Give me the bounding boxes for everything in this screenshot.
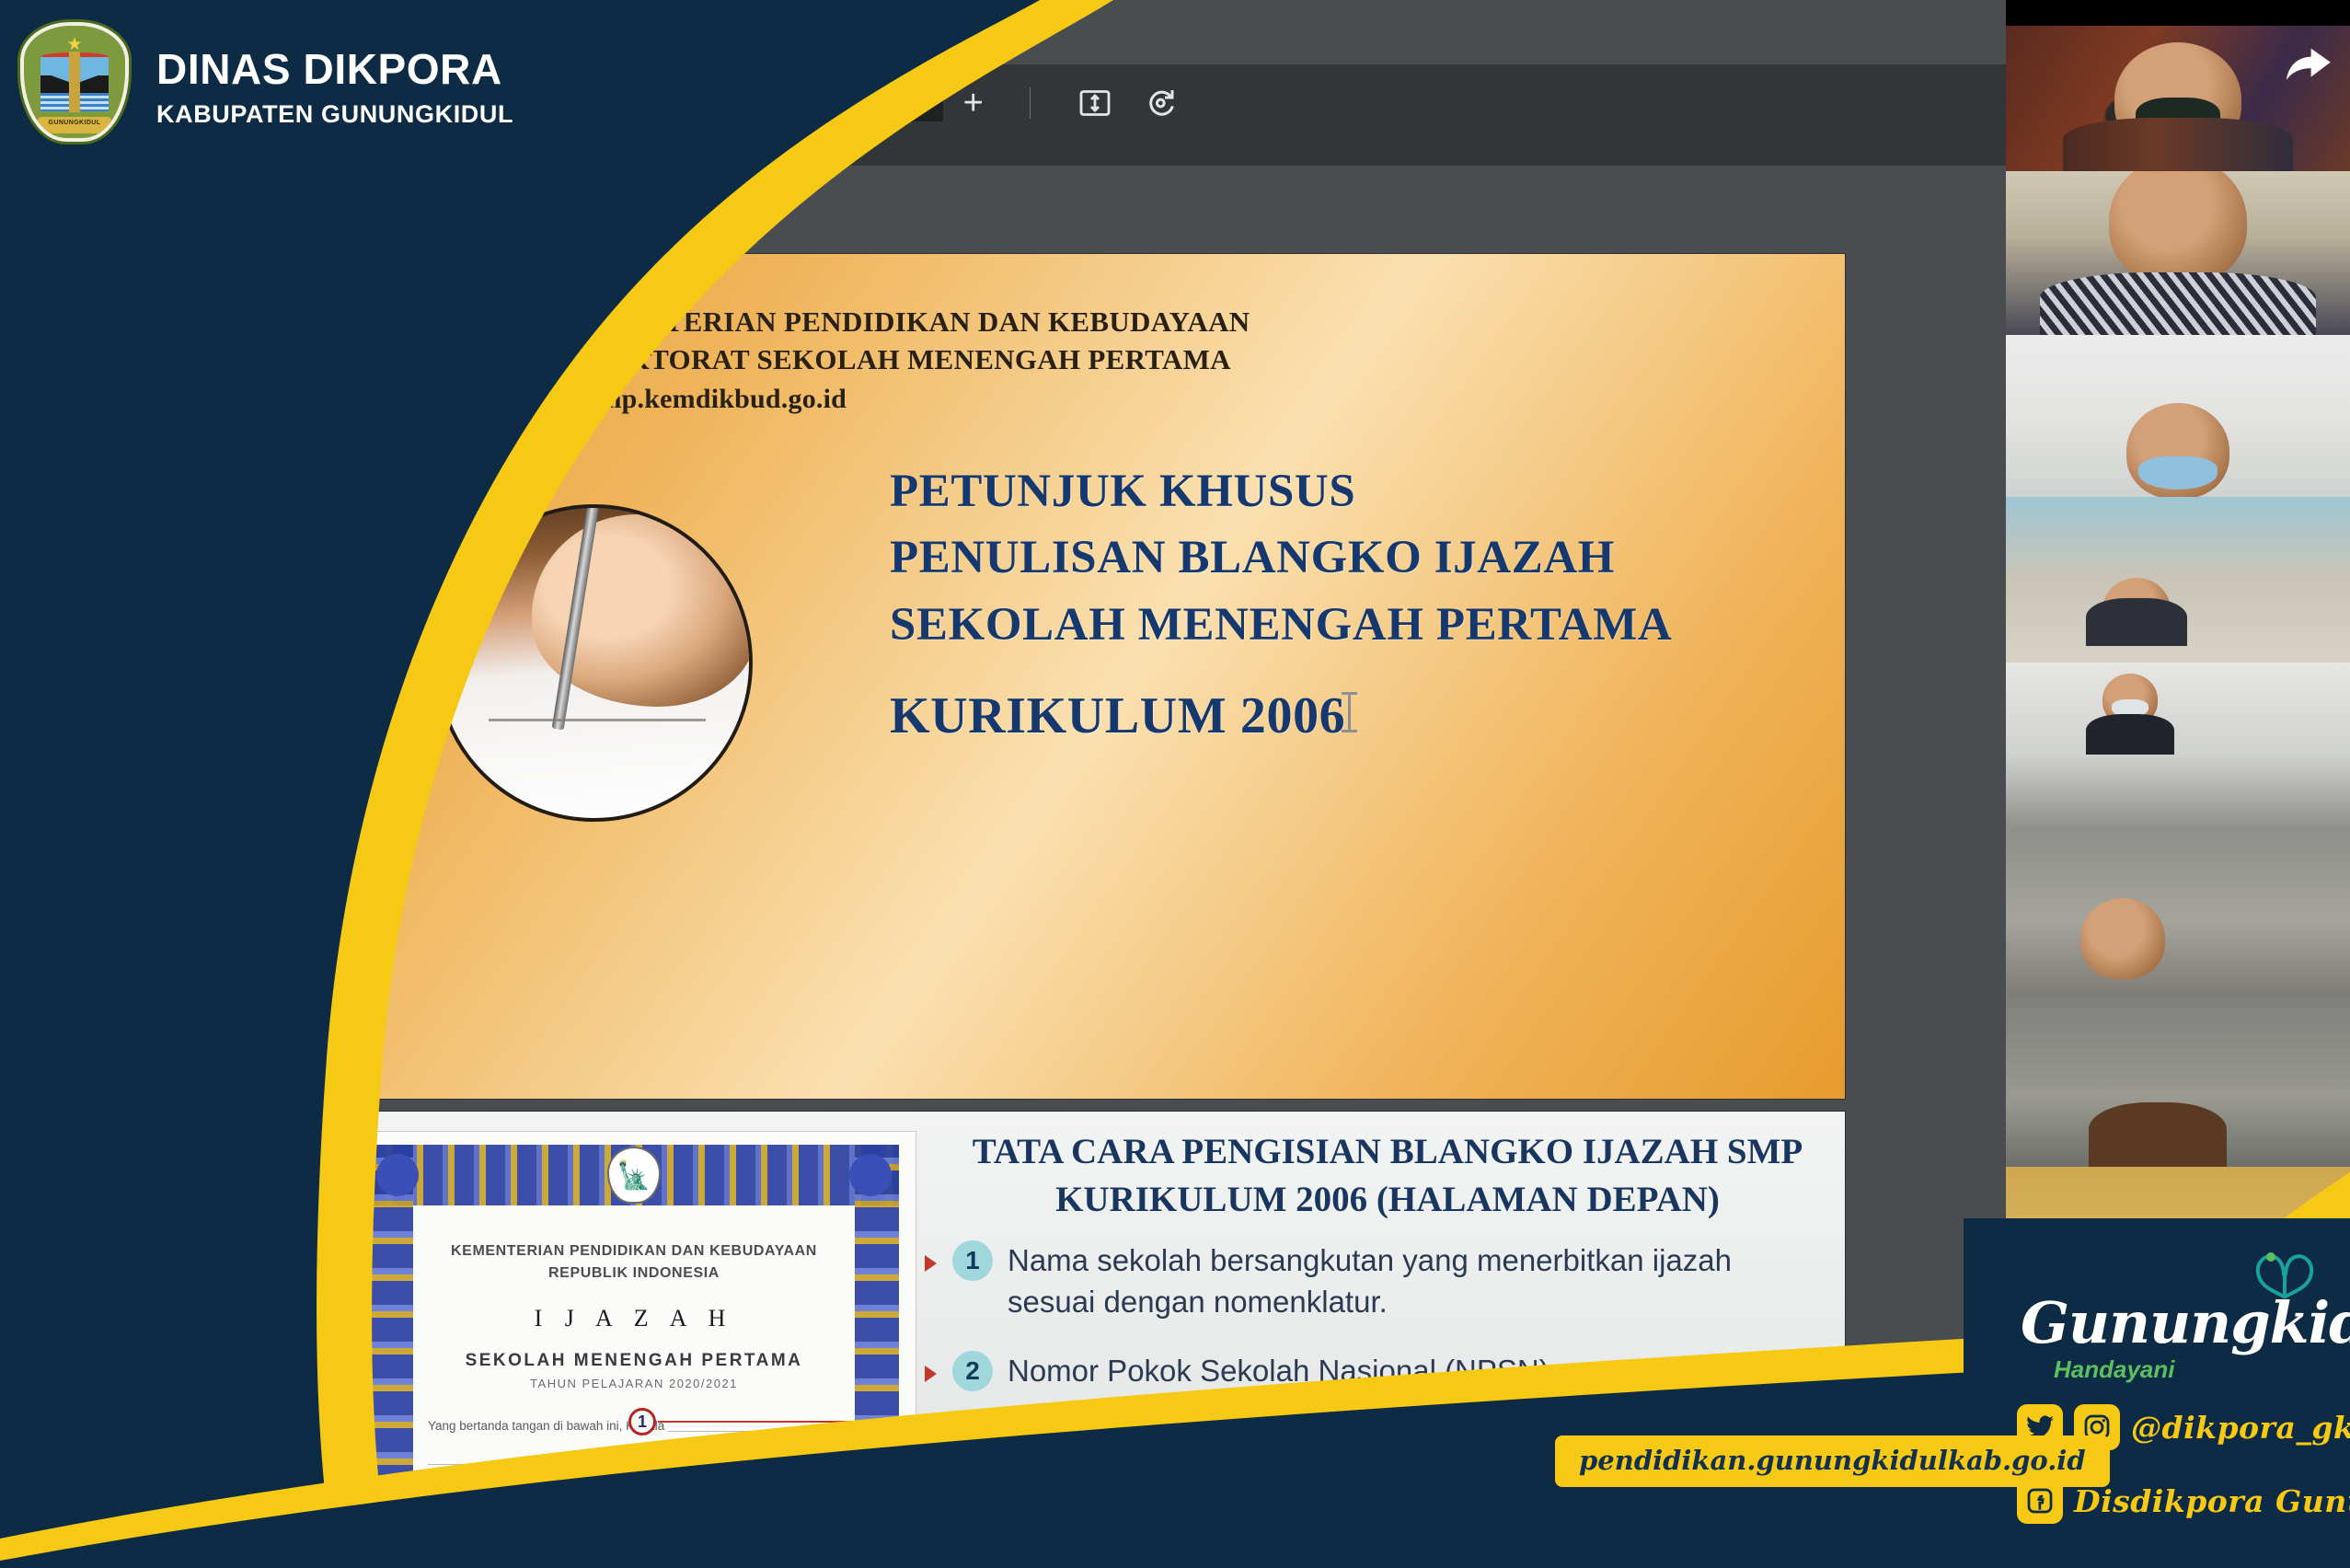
participant-tile-5[interactable] xyxy=(2006,663,2350,830)
brand-title: DINAS DIKPORA KABUPATEN GUNUNGKIDUL xyxy=(156,48,513,129)
total-pages: 55 xyxy=(714,90,740,116)
slide-title-line-2: PENULISAN BLANGKO IJAZAH xyxy=(890,525,1672,591)
certificate-header-line-1: KEMENTERIAN PENDIDIKAN DAN KEBUDAYAAN xyxy=(428,1240,840,1262)
zoom-level-input[interactable]: 100% xyxy=(858,85,942,121)
list-item: 1 Nama sekolah bersangkutan yang menerbi… xyxy=(952,1240,1826,1323)
pdf-page-12: TUT WURI HANDAYANI KEMENTERIAN PENDIDIKA… xyxy=(327,254,1845,1099)
certificate-marker-1: 1 xyxy=(628,1408,656,1435)
list-item-number: 2 xyxy=(952,1351,993,1391)
certificate-year: TAHUN PELAJARAN 2020/2021 xyxy=(428,1377,840,1390)
leader-arrow-icon xyxy=(925,1366,937,1382)
participant-tile-7[interactable] xyxy=(2006,996,2350,1167)
crest-band-text: GUNUNGKIDUL xyxy=(38,117,110,133)
leader-arrow-icon xyxy=(925,1255,937,1272)
region-logo-tagline: Handayani xyxy=(2054,1355,2315,1384)
slide2-heading-line-1: TATA CARA PENGISIAN BLANGKO IJAZAH SMP xyxy=(952,1128,1823,1176)
pdf-toolbar: 12 / 55 − 100% + xyxy=(639,85,1194,121)
certificate-marker-3: 3 xyxy=(527,1504,555,1531)
slide2-heading-line-2: KURIKULUM 2006 (HALAMAN DEPAN) xyxy=(952,1176,1823,1224)
certificate-marker-2: 2 xyxy=(592,1474,619,1502)
ijazah-certificate-image: 🗽 KEMENTERIAN PENDIDIKAN DAN KEBUDAYAAN … xyxy=(352,1132,916,1568)
website-url-badge: pendidikan.gunungkidulkab.go.id xyxy=(1555,1435,2110,1487)
list-item-number: 1 xyxy=(952,1240,993,1281)
rotate-clockwise-icon[interactable] xyxy=(1143,85,1180,121)
certificate-field-label: Kabupaten/Kota xyxy=(428,1511,517,1525)
slide-title-line-3: SEKOLAH MENENGAH PERTAMA xyxy=(890,592,1672,658)
list-item-text: Nomor Pokok Sekolah Nasional (NPSN) xyxy=(1008,1351,1549,1392)
text-cursor-icon xyxy=(1348,692,1351,732)
participant-tile-4[interactable] xyxy=(2006,497,2350,663)
zoom-out-button[interactable]: − xyxy=(803,86,854,121)
brand-title-line-2: KABUPATEN GUNUNGKIDUL xyxy=(156,100,513,129)
facebook-page-name: Disdikpora Gunungkidul xyxy=(2074,1483,2350,1519)
participant-tile-1[interactable] xyxy=(2006,26,2350,171)
page-number-input[interactable]: 12 xyxy=(639,86,685,121)
certificate-marker-4: 4 xyxy=(474,1533,501,1561)
hand-writing-photo xyxy=(435,504,753,822)
list-item: 2 Nomor Pokok Sekolah Nasional (NPSN) xyxy=(952,1351,1826,1392)
slide-title-line-4: KURIKULUM 2006 xyxy=(890,680,1672,754)
livestream-frame: 12 / 55 − 100% + xyxy=(0,0,2350,1568)
gunungkidul-handayani-logo: Gunungkidul Handayani xyxy=(2021,1295,2315,1384)
slide2-heading: TATA CARA PENGISIAN BLANGKO IJAZAH SMP K… xyxy=(952,1128,1823,1225)
fit-page-icon[interactable] xyxy=(1077,85,1113,121)
screen-share-area: 12 / 55 − 100% + xyxy=(0,0,2006,1568)
logo-motto-text: TUT WURI HANDAYANI xyxy=(406,300,498,326)
certificate-title: I J A Z A H xyxy=(428,1305,840,1332)
ministry-line-1: KEMENTERIAN PENDIDIKAN DAN KEBUDAYAAN xyxy=(555,304,1250,341)
list-item-text: Nama sekolah bersangkutan yang menerbitk… xyxy=(1008,1240,1826,1323)
toolbar-divider-1 xyxy=(771,87,772,119)
certificate-field-label: Nomor Pokok Sekolah Nasional xyxy=(428,1483,604,1497)
certificate-header: KEMENTERIAN PENDIDIKAN DAN KEBUDAYAAN RE… xyxy=(428,1240,840,1285)
pdf-viewer-toolbar-bar: 12 / 55 − 100% + xyxy=(363,64,2006,166)
butterfly-flourish-icon xyxy=(2249,1245,2321,1306)
participant-tile-6[interactable] xyxy=(2006,830,2350,996)
leader-arrow-icon xyxy=(925,1435,937,1451)
gunungkidul-regency-crest-icon: ★ GUNUNGKIDUL xyxy=(20,22,129,142)
certificate-field-label: Provinsi xyxy=(428,1540,472,1554)
share-forward-arrow-icon[interactable] xyxy=(2284,46,2333,86)
zoom-in-button[interactable]: + xyxy=(949,86,999,121)
ministry-website: ditsmp.kemdikbud.go.id xyxy=(555,381,1250,418)
slide-title-block: PETUNJUK KHUSUS PENULISAN BLANGKO IJAZAH… xyxy=(890,458,1672,754)
ministry-line-2: DIREKTORAT SEKOLAH MENENGAH PERTAMA xyxy=(555,341,1250,379)
certificate-field-rule xyxy=(428,1452,855,1466)
certificate-subtitle: SEKOLAH MENENGAH PERTAMA xyxy=(428,1351,840,1371)
brand-title-line-1: DINAS DIKPORA xyxy=(156,48,513,90)
slide-title-line-1: PETUNJUK KHUSUS xyxy=(890,458,1672,525)
participant-tile-3[interactable] xyxy=(2006,335,2350,497)
ministry-heading: KEMENTERIAN PENDIDIKAN DAN KEBUDAYAAN DI… xyxy=(555,304,1250,417)
list-item-number: 3 xyxy=(952,1420,993,1460)
participant-tile-2[interactable] xyxy=(2006,171,2350,335)
toolbar-divider-2 xyxy=(1030,87,1031,119)
social-handle: @dikpora_gk xyxy=(2131,1410,2350,1446)
video-top-letterbox xyxy=(2006,0,2350,26)
garuda-pancasila-icon: 🗽 xyxy=(607,1147,661,1204)
certificate-header-line-2: REPUBLIK INDONESIA xyxy=(428,1262,840,1285)
tut-wuri-handayani-logo: TUT WURI HANDAYANI xyxy=(382,293,522,447)
pdf-page-13: 🗽 KEMENTERIAN PENDIDIKAN DAN KEBUDAYAAN … xyxy=(327,1112,1845,1568)
page-separator: / xyxy=(698,90,705,116)
